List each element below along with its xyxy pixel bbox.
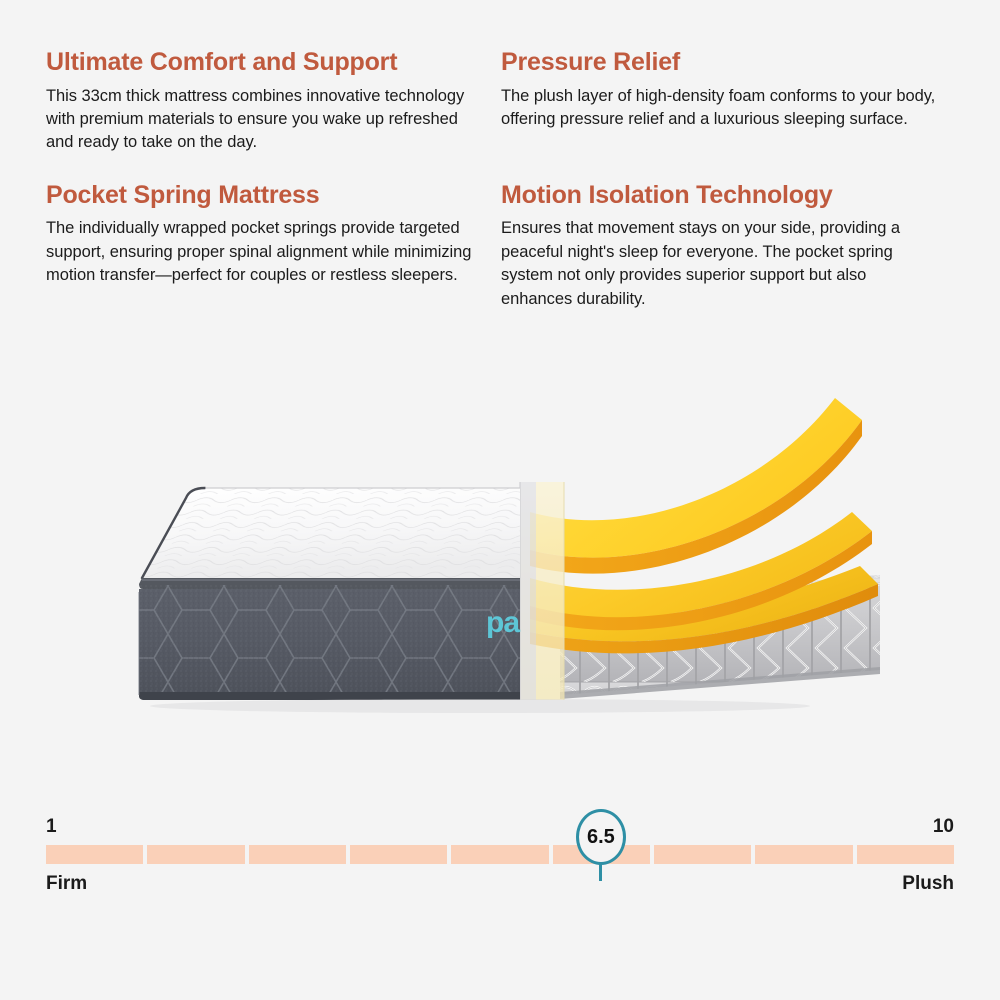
- scale-max-label: Plush: [902, 873, 954, 895]
- scale-track[interactable]: 6.5: [46, 845, 954, 864]
- marker-value: 6.5: [587, 827, 615, 847]
- scale-segment[interactable]: [350, 845, 447, 864]
- scale-segment[interactable]: [755, 845, 852, 864]
- product-feature-page: Ultimate Comfort and Support This 33cm t…: [0, 0, 1000, 1000]
- feature-title: Pressure Relief: [501, 48, 941, 78]
- feature-body: Ensures that movement stays on your side…: [501, 217, 941, 311]
- feature-grid: Ultimate Comfort and Support This 33cm t…: [46, 48, 956, 311]
- scale-segment[interactable]: [451, 845, 548, 864]
- cutaway-plane: [520, 482, 564, 700]
- scale-segment[interactable]: [249, 845, 346, 864]
- scale-endpoints: 1 10: [46, 812, 954, 838]
- feature-title: Motion Isolation Technology: [501, 181, 941, 211]
- scale-labels: Firm Plush: [46, 873, 954, 901]
- feature-body: The plush layer of high-density foam con…: [501, 85, 941, 132]
- feature-motion-isolation-technology: Motion Isolation Technology Ensures that…: [501, 181, 941, 311]
- mattress-side-panel-hexagon-knit: [130, 585, 530, 705]
- scale-segment[interactable]: [654, 845, 751, 864]
- feature-body: This 33cm thick mattress combines innova…: [46, 85, 486, 155]
- mattress-cutaway-illustration: pa: [0, 370, 1000, 750]
- scale-max-value: 10: [933, 816, 954, 838]
- marker-bubble: 6.5: [576, 809, 626, 865]
- feature-pocket-spring-mattress: Pocket Spring Mattress The individually …: [46, 181, 486, 311]
- scale-segment[interactable]: [857, 845, 954, 864]
- firmness-scale: 1 10 6.5 Firm Plush: [46, 812, 954, 922]
- feature-ultimate-comfort-and-support: Ultimate Comfort and Support This 33cm t…: [46, 48, 486, 155]
- feature-title: Ultimate Comfort and Support: [46, 48, 486, 78]
- scale-min-label: Firm: [46, 873, 87, 895]
- mattress-cover-quilted-top: [130, 480, 530, 585]
- scale-segment[interactable]: [147, 845, 244, 864]
- brand-logo: pa: [486, 606, 520, 639]
- feature-body: The individually wrapped pocket springs …: [46, 217, 486, 287]
- feature-title: Pocket Spring Mattress: [46, 181, 486, 211]
- feature-pressure-relief: Pressure Relief The plush layer of high-…: [501, 48, 941, 155]
- scale-min-value: 1: [46, 816, 57, 838]
- scale-segment[interactable]: [46, 845, 143, 864]
